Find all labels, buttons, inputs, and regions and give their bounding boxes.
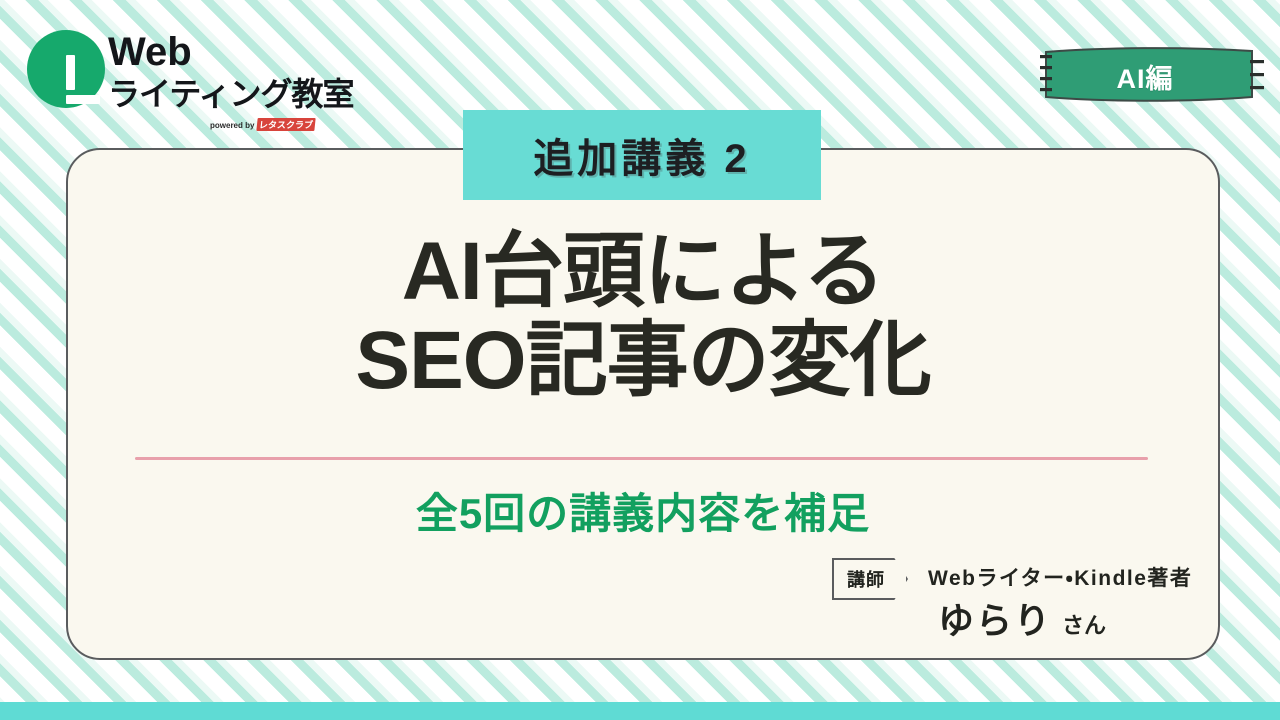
logo-text-web: Web bbox=[108, 32, 192, 72]
logo-text-japanese: ライティング教室 bbox=[108, 78, 353, 110]
logo-l-vertical-stroke bbox=[66, 55, 75, 90]
instructor-tag: 講師 bbox=[832, 558, 908, 600]
powered-by-prefix: powered by bbox=[210, 121, 254, 130]
instructor-name: ゆらり bbox=[938, 592, 1052, 644]
title-line-1: AI台頭による bbox=[66, 228, 1220, 317]
instructor-name-suffix: さん bbox=[1062, 608, 1106, 640]
title-divider bbox=[135, 457, 1148, 460]
instructor-name-row: ゆらり さん bbox=[938, 592, 1106, 644]
logo-powered-by: powered byレタスクラブ bbox=[210, 118, 315, 131]
title-block: AI台頭による SEO記事の変化 bbox=[66, 228, 1220, 405]
lesson-badge: 追加講義 2 bbox=[463, 110, 821, 200]
powered-by-brand: レタスクラブ bbox=[257, 118, 316, 131]
instructor-role: Webライター・Kindle著者 bbox=[928, 562, 1192, 592]
bottom-accent-bar bbox=[0, 702, 1280, 720]
slide-canvas: Web ライティング教室 powered byレタスクラブ AI編 追加講義 2… bbox=[0, 0, 1280, 720]
title-line-2: SEO記事の変化 bbox=[66, 317, 1220, 406]
logo-circle-icon bbox=[27, 30, 105, 108]
subtitle-text: 全5回の講義内容を補足 bbox=[66, 480, 1220, 541]
logo-l-horizontal-stroke bbox=[66, 95, 100, 104]
lesson-badge-label: 追加講義 2 bbox=[533, 126, 750, 184]
ai-edition-ribbon: AI編 bbox=[1040, 46, 1280, 104]
ribbon-label: AI編 bbox=[1040, 57, 1250, 96]
brand-logo: Web ライティング教室 powered byレタスクラブ bbox=[22, 22, 352, 130]
instructor-block: 講師 Webライター・Kindle著者 ゆらり さん bbox=[832, 556, 1192, 636]
instructor-tag-label: 講師 bbox=[847, 566, 885, 592]
